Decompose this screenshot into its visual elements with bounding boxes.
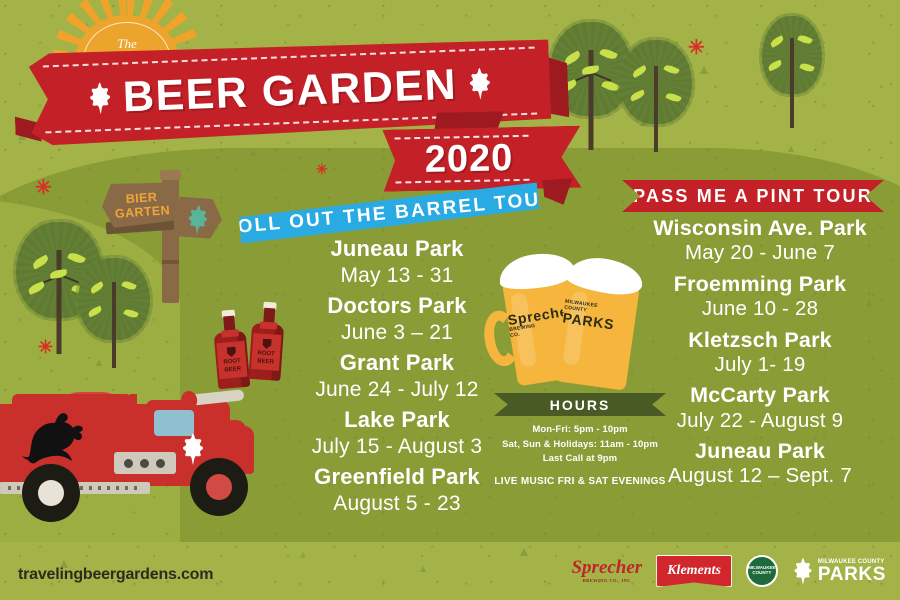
year-ribbon: 2020 (382, 126, 555, 192)
sponsor-parks-main: PARKS (818, 565, 886, 584)
park-dates: June 24 - July 12 (262, 377, 532, 402)
park-dates: July 15 - August 3 (262, 434, 532, 459)
hours-line: Sat, Sun & Holidays: 11am - 10pm (494, 438, 666, 453)
park-dates: May 13 - 31 (262, 263, 532, 288)
decorative-tree (760, 16, 824, 128)
sponsor-logo-sprecher: Sprecher BREWING CO., INC (571, 558, 642, 584)
parks-leaf-icon (792, 557, 814, 585)
list-item: Juneau Park May 13 - 31 (262, 236, 532, 288)
park-name: Juneau Park (262, 236, 532, 263)
oak-leaf-icon (466, 66, 493, 101)
vintage-truck-illustration (0, 386, 284, 536)
hours-line: Mon-Fri: 5pm - 10pm (494, 423, 666, 438)
decorative-tree (620, 40, 692, 152)
oak-leaf-icon (185, 203, 211, 233)
tour-banner-pass-me-a-pint: PASS ME A PINT TOUR (622, 180, 884, 212)
park-list-roll-out-the-barrel: Juneau Park May 13 - 31 Doctors Park Jun… (262, 236, 532, 521)
park-name: Wisconsin Ave. Park (620, 215, 900, 241)
year-label: 2020 (382, 126, 555, 192)
bottle-crest-icon (226, 347, 236, 358)
sponsor-logo-milwaukee-county-parks: MILWAUKEE COUNTY PARKS (792, 557, 886, 585)
root-beer-bottle: ROOT BEER (210, 307, 251, 392)
hours-section: HOURS Mon-Fri: 5pm - 10pm Sat, Sun & Hol… (494, 393, 666, 487)
griffin-icon (20, 408, 100, 470)
oak-leaf-icon (86, 81, 113, 116)
hours-line: Last Call at 9pm (494, 452, 666, 467)
hours-header: HOURS (494, 393, 666, 416)
park-dates: August 5 - 23 (262, 491, 532, 516)
bottle-label-line2: BEER (224, 366, 241, 374)
park-name: Lake Park (262, 407, 532, 434)
website-url[interactable]: travelingbeergardens.com (18, 566, 213, 584)
flower-icon: ✳ (35, 178, 52, 198)
flower-icon: ✳ (38, 338, 53, 356)
poster-canvas: ✳ ✳ ✳ ✳ The Traveling BEER GARDEN (0, 0, 900, 600)
sponsor-name: Sprecher (571, 557, 642, 578)
sponsor-logo-milwaukee-county-seal: MILWAUKEE COUNTY (746, 555, 778, 587)
oak-leaf-icon (180, 432, 206, 466)
list-item: Lake Park July 15 - August 3 (262, 407, 532, 459)
page-title: BEER GARDEN (122, 60, 458, 122)
sponsor-logos: Sprecher BREWING CO., INC Klements MILWA… (571, 553, 886, 589)
live-music-note: LIVE MUSIC FRI & SAT EVENINGS (494, 476, 666, 487)
flower-icon: ✳ (688, 38, 705, 58)
sign-line-2: GARTEN (114, 203, 170, 221)
tour-banner-label: PASS ME A PINT TOUR (633, 186, 873, 207)
list-item: Greenfield Park August 5 - 23 (262, 464, 532, 516)
sponsor-sub: BREWING CO., INC (571, 579, 642, 584)
beer-mugs-illustration: Sprecher BREWING CO. MILWAUKEE COUNTY PA… (494, 252, 664, 392)
flower-icon: ✳ (316, 162, 328, 176)
sponsor-logo-klements: Klements (656, 555, 732, 587)
bier-garten-signpost: BIER GARTEN (100, 168, 240, 303)
park-name: Greenfield Park (262, 464, 532, 491)
